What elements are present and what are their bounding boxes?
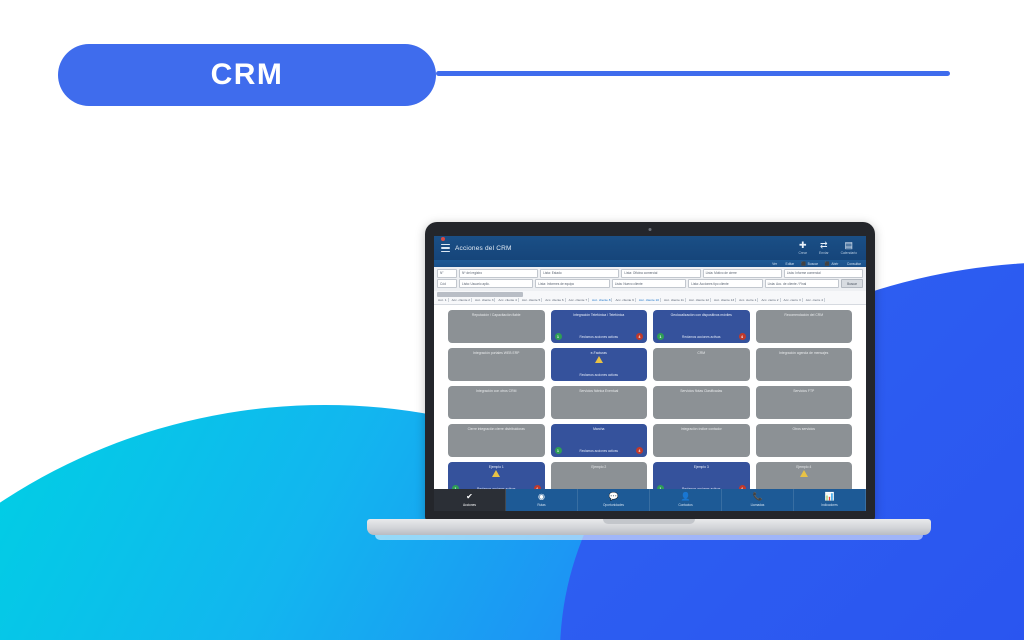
laptop-mockup: Acciones del CRM ✚ Crear ⇄ Enviar ▤ Cale xyxy=(367,222,931,552)
nav-item-label: Rutas xyxy=(537,503,545,507)
tab-chip[interactable]: Acc. cliente 5 xyxy=(521,298,542,302)
action-card-title: Geolocalización con dispositivos móviles xyxy=(671,313,732,317)
share-icon: ⇄ xyxy=(820,241,828,250)
subtoolbar-item-icon: ⬛ xyxy=(801,261,806,266)
filter-field[interactable]: Lista: Acc. de cliente / Final xyxy=(765,279,839,288)
action-card-subtitle: Reclamos acciones activas xyxy=(477,488,515,489)
subtoolbar-item[interactable]: Editar xyxy=(784,262,794,266)
subtoolbar-item[interactable]: Ver xyxy=(771,262,777,266)
chart-bar-icon: 📊 xyxy=(825,493,835,501)
nav-item-label: Oportunidades xyxy=(603,503,624,507)
action-card-title: Integración agenda de mensajes xyxy=(779,351,828,355)
action-card-subtitle: Reclamos acciones activas xyxy=(682,488,720,489)
send-action-label: Enviar xyxy=(819,251,829,255)
action-card-subtitle: Reclamos acciones activas xyxy=(682,336,720,340)
tab-chip[interactable]: Acc. cliente 2 xyxy=(451,298,472,302)
warning-triangle-icon xyxy=(595,356,603,363)
laptop-screen: Acciones del CRM ✚ Crear ⇄ Enviar ▤ Cale xyxy=(434,236,866,511)
filter-area: N°Nº del registroLista: EstadoLista: Ofi… xyxy=(434,267,866,291)
tab-chip[interactable]: Acc. cliente 6 xyxy=(544,298,565,302)
action-card[interactable]: CRM xyxy=(653,348,750,381)
action-card-title: Reputación / Capacitación fiable xyxy=(472,313,521,317)
filter-field[interactable]: Lista: Estado xyxy=(540,269,619,278)
tab-chip[interactable]: Acc. cierre 4 xyxy=(805,298,825,302)
webcam-icon xyxy=(649,228,652,231)
filter-field[interactable]: Lista: Motivo de cierre xyxy=(703,269,782,278)
action-card-title: Cierre integración cierre distribuidoras xyxy=(468,427,525,431)
warning-triangle-icon xyxy=(800,470,808,477)
phone-icon: 📞 xyxy=(753,493,763,501)
app-header-title: Acciones del CRM xyxy=(455,245,512,252)
filter-field[interactable]: Lista: Oficina comercial xyxy=(621,269,700,278)
status-badge-red[interactable]: 4 xyxy=(739,333,746,340)
tab-chip[interactable]: Acc. cierre 1 xyxy=(738,298,758,302)
nav-item-label: Llamadas xyxy=(751,503,765,507)
bottom-navigation: ✔Acciones◉Rutas💬Oportunidades👤Contactos📞… xyxy=(434,489,866,511)
status-badge-red[interactable]: 4 xyxy=(636,333,643,340)
tab-chip[interactable]: Acc. cierre 3 xyxy=(783,298,803,302)
filter-field[interactable]: N° xyxy=(437,269,457,278)
action-card-title: Ejemplo 2 xyxy=(591,465,606,469)
action-card-title: Recomendación del CRM xyxy=(784,313,823,317)
action-card-title: Ejemplo 3 xyxy=(694,465,709,469)
subtoolbar-item-label: Editar xyxy=(786,262,795,266)
action-card-title: Ejemplo 4 xyxy=(796,465,811,469)
tab-chip[interactable]: Acc. cliente 10 xyxy=(638,298,661,302)
create-action-label: Crear xyxy=(798,251,806,255)
action-card-subtitle: Reclamos acciones activas xyxy=(580,336,618,340)
nav-item-contactos[interactable]: 👤Contactos xyxy=(650,489,722,511)
subtoolbar-item-label: Buscar xyxy=(808,262,818,266)
action-card[interactable]: Integración índice contador xyxy=(653,424,750,457)
action-card[interactable]: Reputación / Capacitación fiable xyxy=(448,310,545,343)
page-title-pill: CRM xyxy=(58,44,436,106)
action-card[interactable]: Ejemplo 2 xyxy=(551,462,648,489)
action-card-title: CRM xyxy=(697,351,705,355)
tab-chip[interactable]: Acc. cliente 4 xyxy=(497,298,518,302)
page-title: CRM xyxy=(211,58,284,92)
create-action-button[interactable]: ✚ Crear xyxy=(798,241,806,255)
action-card[interactable]: Ejemplo 3Reclamos acciones activas14 xyxy=(653,462,750,489)
nav-item-indicadores[interactable]: 📊Indicadores xyxy=(794,489,866,511)
subtoolbar-item[interactable]: ⬛Buscar xyxy=(801,261,818,266)
status-badge-green[interactable]: 1 xyxy=(657,485,664,489)
action-card-title: e-Facturas xyxy=(591,351,607,355)
action-card-title: Otros servicios xyxy=(793,427,815,431)
nav-item-label: Indicadores xyxy=(821,503,837,507)
hamburger-icon[interactable] xyxy=(441,244,450,252)
action-card-title: Servicios fábrica Eventual xyxy=(579,389,618,393)
poster-canvas: CRM Acciones del CRM ✚ Crear xyxy=(0,0,1024,640)
card-grid-area: Reputación / Capacitación fiableIntegrac… xyxy=(434,305,866,489)
action-card[interactable]: Geolocalización con dispositivos móviles… xyxy=(653,310,750,343)
notification-dot-icon xyxy=(441,237,445,241)
tab-chip[interactable]: Acc. cliente 3 xyxy=(474,298,495,302)
check-icon: ✔ xyxy=(466,493,473,501)
nav-item-label: Contactos xyxy=(678,503,692,507)
calendar-action-button[interactable]: ▤ Calendario xyxy=(841,241,857,255)
tab-chip[interactable]: Acc. cliente 9 xyxy=(614,298,635,302)
subtoolbar-item[interactable]: ⬛Abrir xyxy=(825,261,838,266)
status-badge-red[interactable]: 4 xyxy=(636,447,643,454)
action-card-subtitle: Reclamos acciones activas xyxy=(580,450,618,454)
subtoolbar-item-label: Abrir xyxy=(831,262,838,266)
action-card[interactable]: Ejemplo 4 xyxy=(756,462,853,489)
action-card-title: Marcha xyxy=(593,427,604,431)
filter-row-2: CódLista: Usuario aplic.Lista: Informes … xyxy=(437,279,863,288)
action-card[interactable]: Integración portales WEB ERP xyxy=(448,348,545,381)
status-badge-red[interactable]: 4 xyxy=(534,485,541,489)
filter-field[interactable]: Lista: Usuario aplic. xyxy=(459,279,533,288)
subtoolbar-item[interactable]: Consultar xyxy=(845,262,861,266)
app-header: Acciones del CRM ✚ Crear ⇄ Enviar ▤ Cale xyxy=(434,236,866,260)
send-action-button[interactable]: ⇄ Enviar xyxy=(819,241,829,255)
action-card-subtitle: Reclamos acciones activas xyxy=(580,374,618,378)
action-card[interactable]: e-FacturasReclamos acciones activas xyxy=(551,348,648,381)
tab-chip[interactable]: Acc. cliente 13 xyxy=(713,298,736,302)
app-subtoolbar: VerEditar⬛Buscar⬛AbrirConsultar xyxy=(434,260,866,267)
plus-icon: ✚ xyxy=(799,241,807,250)
action-card-title: Integración Telefónica / Telefónica xyxy=(573,313,624,317)
laptop-foot xyxy=(375,535,923,540)
laptop-lid: Acciones del CRM ✚ Crear ⇄ Enviar ▤ Cale xyxy=(425,222,875,521)
action-card-title: Integración con otros CRM xyxy=(476,389,516,393)
action-card[interactable]: Integración Telefónica / TelefónicaRecla… xyxy=(551,310,648,343)
action-card[interactable]: Cierre integración cierre distribuidoras xyxy=(448,424,545,457)
header-actions: ✚ Crear ⇄ Enviar ▤ Calendario xyxy=(798,241,861,255)
status-badge-green[interactable]: 1 xyxy=(657,333,664,340)
tab-chip[interactable]: Acc. cliente 8 xyxy=(591,298,612,302)
status-badge-green[interactable]: 1 xyxy=(555,447,562,454)
action-card[interactable]: Servicios flotas Clasificadas xyxy=(653,386,750,419)
laptop-base-notch xyxy=(603,519,695,524)
action-card[interactable]: Otros servicios xyxy=(756,424,853,457)
person-icon: 👤 xyxy=(681,493,691,501)
subtoolbar-item-label: Consultar xyxy=(847,262,861,266)
filter-field[interactable]: Lista: Nuevo cliente xyxy=(612,279,686,288)
title-divider-rule xyxy=(436,71,950,76)
subtoolbar-item-label: Ver xyxy=(772,262,777,266)
location-pin-icon: ◉ xyxy=(538,493,545,501)
nav-item-llamadas[interactable]: 📞Llamadas xyxy=(722,489,794,511)
calendar-action-label: Calendario xyxy=(841,251,857,255)
filter-search-button[interactable]: Buscar xyxy=(841,279,863,288)
action-card-title: Servicios FTP xyxy=(793,389,814,393)
filter-field[interactable]: Lista: Acciones tipo cliente xyxy=(688,279,762,288)
subtoolbar-item-icon: ⬛ xyxy=(825,261,830,266)
action-card[interactable]: Servicios FTP xyxy=(756,386,853,419)
card-grid: Reputación / Capacitación fiableIntegrac… xyxy=(448,310,852,489)
tab-strip: Acc. 1Acc. cliente 2Acc. cliente 3Acc. c… xyxy=(434,297,866,305)
action-card-title: Integración índice contador xyxy=(681,427,722,431)
action-card[interactable]: Servicios fábrica Eventual xyxy=(551,386,648,419)
calendar-icon: ▤ xyxy=(845,241,854,250)
action-card[interactable]: Recomendación del CRM xyxy=(756,310,853,343)
nav-item-rutas[interactable]: ◉Rutas xyxy=(506,489,578,511)
status-badge-green[interactable]: 1 xyxy=(452,485,459,489)
action-card[interactable]: Ejemplo 1Reclamos acciones activas14 xyxy=(448,462,545,489)
filter-field[interactable]: Cód xyxy=(437,279,457,288)
status-badge-red[interactable]: 4 xyxy=(739,485,746,489)
filter-field[interactable]: Lista: Informe comercial xyxy=(784,269,863,278)
filter-field[interactable]: Nº del registro xyxy=(459,269,538,278)
action-card-title: Servicios flotas Clasificadas xyxy=(680,389,722,393)
status-badge-green[interactable]: 1 xyxy=(555,333,562,340)
action-card-title: Ejemplo 1 xyxy=(489,465,504,469)
chat-bubble-icon: 💬 xyxy=(609,493,619,501)
action-card-title: Integración portales WEB ERP xyxy=(473,351,519,355)
filter-field[interactable]: Lista: Informes de equipo xyxy=(535,279,609,288)
tab-chip[interactable]: Acc. 1 xyxy=(437,298,449,302)
filter-row-1: N°Nº del registroLista: EstadoLista: Ofi… xyxy=(437,269,863,278)
action-card[interactable]: Integración con otros CRM xyxy=(448,386,545,419)
action-card[interactable]: MarchaReclamos acciones activas14 xyxy=(551,424,648,457)
nav-item-acciones[interactable]: ✔Acciones xyxy=(434,489,506,511)
action-card[interactable]: Integración agenda de mensajes xyxy=(756,348,853,381)
tab-chip[interactable]: Acc. cliente 7 xyxy=(568,298,589,302)
nav-item-label: Acciones xyxy=(463,503,476,507)
tab-chip[interactable]: Acc. cliente 12 xyxy=(688,298,711,302)
tab-chip[interactable]: Acc. cierre 2 xyxy=(760,298,780,302)
warning-triangle-icon xyxy=(492,470,500,477)
nav-item-oportunidades[interactable]: 💬Oportunidades xyxy=(578,489,650,511)
tab-chip[interactable]: Acc. cliente 11 xyxy=(663,298,686,302)
